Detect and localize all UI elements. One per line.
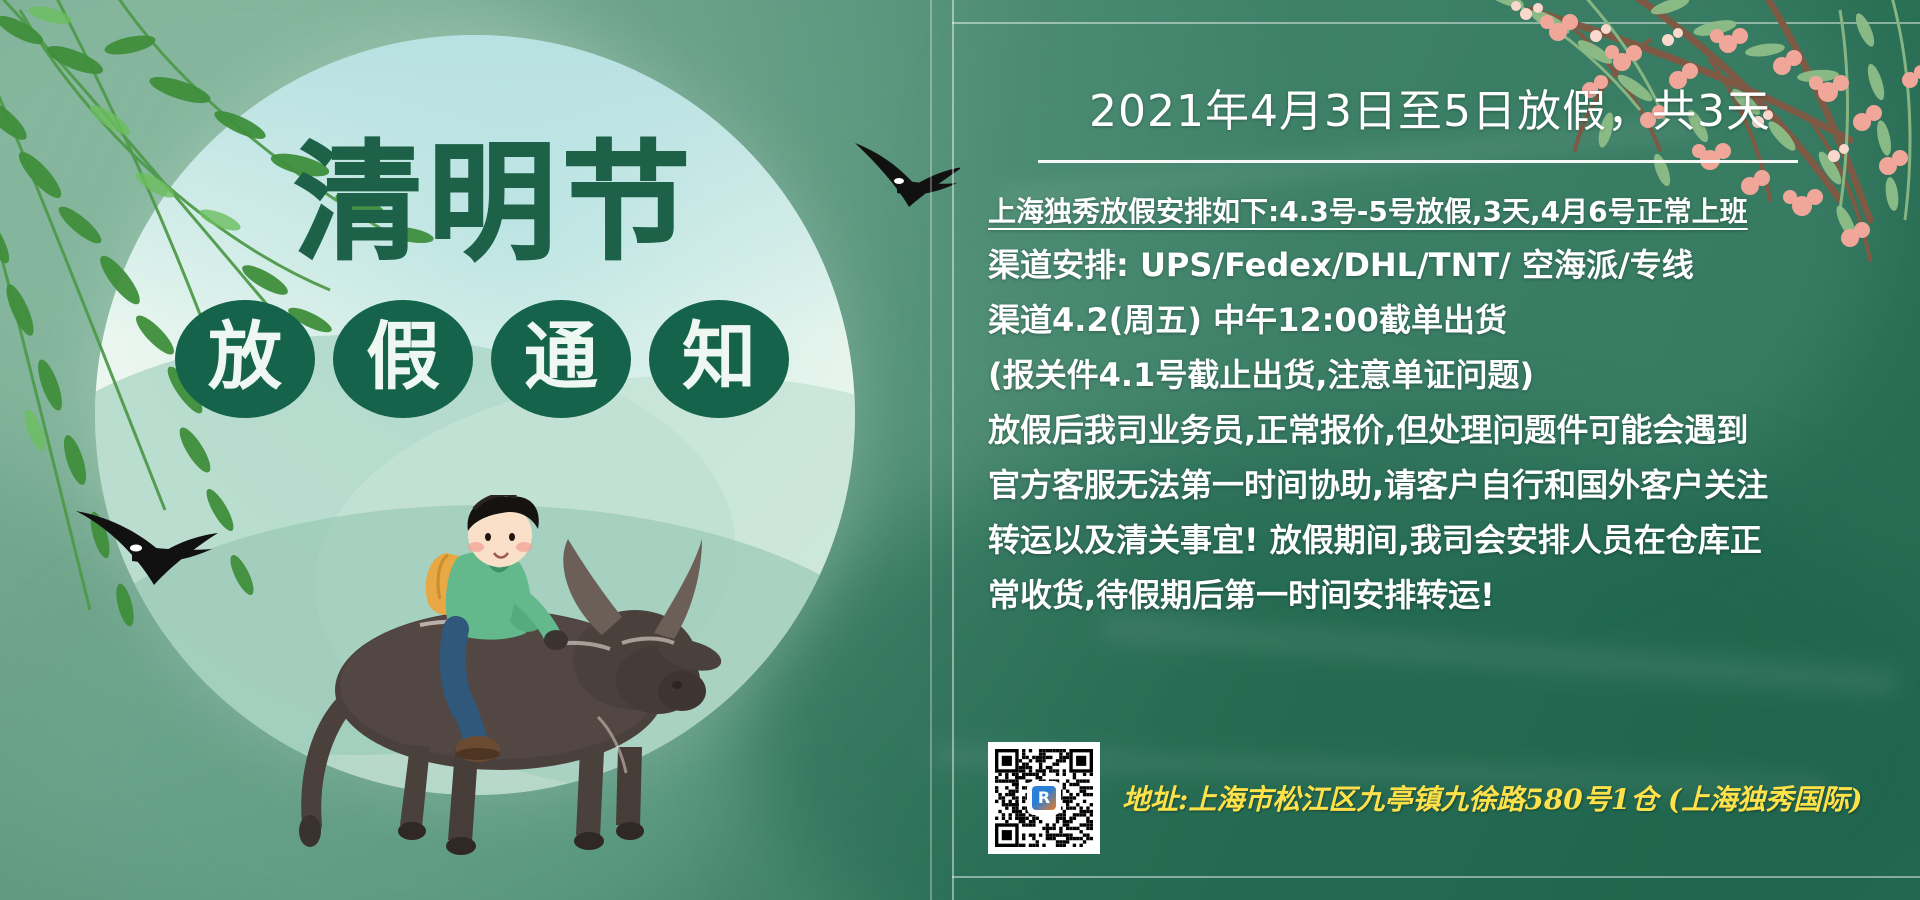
address-row: R 地址:上海市松江区九亭镇九徐路580号1仓 (上海独秀国际)	[988, 742, 1863, 854]
badge-jia: 假	[333, 300, 473, 418]
notice-line: (报关件4.1号截止出货,注意单证问题)	[988, 359, 1908, 391]
boy-riding-buffalo-illustration	[250, 495, 770, 865]
notice-line: 官方客服无法第一时间协助,请客户自行和国外客户关注	[988, 469, 1908, 501]
right-panel: 2021年4月3日至5日放假，共3天 上海独秀放假安排如下:4.3号-5号放假,…	[930, 0, 1920, 900]
left-panel: 清明节 放 假 通 知	[0, 0, 960, 900]
qr-code[interactable]: R	[988, 742, 1100, 854]
holiday-date-title: 2021年4月3日至5日放假，共3天	[990, 88, 1870, 136]
notice-badges: 放 假 通 知	[175, 300, 795, 418]
holiday-notice-poster: 清明节 放 假 通 知	[0, 0, 1920, 900]
frame-line	[930, 0, 932, 900]
notice-line: 上海独秀放假安排如下:4.3号-5号放假,3天,4月6号正常上班	[988, 198, 1908, 226]
badge-zhi: 知	[649, 300, 789, 418]
badge-tong: 通	[491, 300, 631, 418]
notice-line: 渠道安排: UPS/Fedex/DHL/TNT/ 空海派/专线	[988, 249, 1908, 281]
notice-body: 上海独秀放假安排如下:4.3号-5号放假,3天,4月6号正常上班 渠道安排: U…	[988, 198, 1908, 634]
notice-line: 转运以及清关事宜! 放假期间,我司会安排人员在仓库正	[988, 524, 1908, 556]
company-address: 地址:上海市松江区九亭镇九徐路580号1仓 (上海独秀国际)	[1122, 778, 1863, 818]
qr-logo-letter: R	[1032, 786, 1056, 810]
frame-line	[952, 0, 954, 900]
qr-logo: R	[1029, 783, 1059, 813]
swallow-icon	[70, 495, 220, 605]
notice-line: 放假后我司业务员,正常报价,但处理问题件可能会遇到	[988, 414, 1908, 446]
title-underline-rule	[1038, 160, 1798, 163]
notice-line: 常收货,待假期后第一时间安排转运!	[988, 579, 1908, 611]
badge-fang: 放	[175, 300, 315, 418]
frame-line	[952, 876, 1920, 878]
notice-line: 渠道4.2(周五) 中午12:00截单出货	[988, 304, 1908, 336]
page-title: 清明节	[265, 140, 725, 268]
